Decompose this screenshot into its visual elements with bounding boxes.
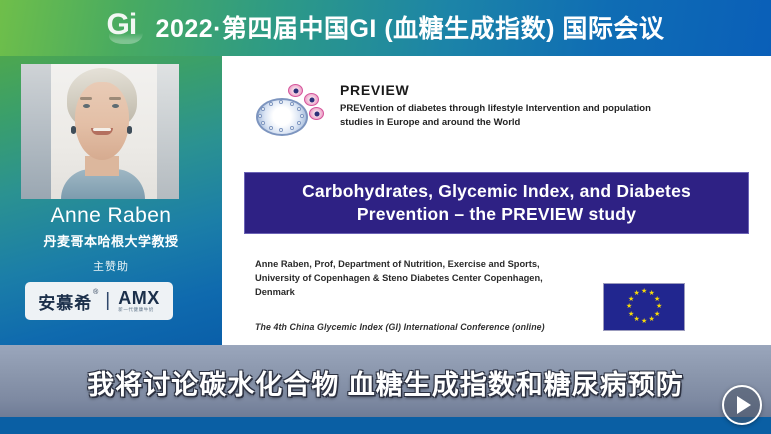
cell-membrane-dot-icon	[261, 107, 265, 111]
portrait-eye-right	[112, 104, 119, 108]
slide-title-banner: Carbohydrates, Glycemic Index, and Diabe…	[244, 172, 749, 234]
conference-header-banner: Gi 2022·第四届中国GI (血糖生成指数) 国际会议	[0, 0, 771, 56]
preview-project-name: PREVIEW	[340, 82, 670, 98]
cell-membrane-dot-icon	[297, 121, 301, 125]
eu-flag-star-1: ★	[641, 289, 647, 295]
small-cell-icon-2	[304, 93, 319, 106]
speaker-panel: Anne Raben 丹麦哥本哈根大学教授 主赞助 安慕希® | AMX 新一代…	[0, 56, 222, 345]
registered-mark-icon: ®	[93, 289, 99, 296]
cell-membrane-dot-icon	[279, 128, 283, 132]
portrait-bg-right	[157, 64, 179, 199]
preview-text-block: PREVIEW PREVention of diabetes through l…	[340, 82, 670, 130]
eu-flag-star-8: ★	[634, 317, 640, 323]
large-cell-icon	[256, 98, 308, 136]
eu-flag-star-6: ★	[649, 317, 655, 323]
preview-project-header: PREVIEW PREVention of diabetes through l…	[254, 82, 670, 136]
cell-membrane-dot-icon	[269, 102, 273, 106]
portrait-eye-left	[83, 104, 90, 108]
sponsor-english-subtitle: 新一代健康牛奶	[118, 308, 154, 313]
portrait-face	[75, 82, 129, 160]
sponsor-divider: |	[105, 290, 110, 312]
gi-logo-icon: Gi	[107, 12, 147, 46]
portrait-bg-left	[21, 64, 51, 199]
cell-membrane-dot-icon	[290, 126, 294, 130]
eu-flag-star-11: ★	[628, 297, 634, 303]
cell-membrane-dot-icon	[269, 126, 273, 130]
eu-flag-star-4: ★	[656, 304, 662, 310]
presentation-slide[interactable]: PREVIEW PREVention of diabetes through l…	[222, 56, 771, 345]
speaker-portrait-photo	[21, 64, 179, 199]
header-inner: Gi 2022·第四届中国GI (血糖生成指数) 国际会议	[107, 12, 665, 46]
eu-flag-star-10: ★	[626, 304, 632, 310]
sponsor-english-name: AMX	[118, 289, 160, 307]
portrait-teeth	[93, 128, 111, 131]
small-cell-icon-3	[309, 107, 324, 120]
slide-authors-affiliation: Anne Raben, Prof, Department of Nutritio…	[255, 258, 585, 300]
eu-flag-star-9: ★	[628, 312, 634, 318]
portrait-earring-right	[127, 126, 132, 134]
cell-membrane-dot-icon	[258, 114, 262, 118]
conference-title: 2022·第四届中国GI (血糖生成指数) 国际会议	[156, 15, 665, 43]
portrait-brow-left	[80, 97, 92, 100]
bottom-color-strip	[0, 417, 771, 434]
eu-flag-star-12: ★	[634, 291, 640, 297]
cell-membrane-dot-icon	[279, 100, 283, 104]
small-cell-icon-1	[288, 84, 303, 97]
slide-title-line2: Prevention – the PREVIEW study	[357, 203, 636, 226]
eu-flag-star-7: ★	[641, 319, 647, 325]
sponsor-logo-card: 安慕希® | AMX 新一代健康牛奶	[25, 282, 173, 320]
portrait-brow-right	[109, 97, 121, 100]
cell-membrane-dot-icon	[290, 102, 294, 106]
portrait-earring-left	[71, 126, 76, 134]
cell-membrane-dot-icon	[297, 107, 301, 111]
video-player[interactable]: Gi 2022·第四届中国GI (血糖生成指数) 国际会议 Anne Raben	[0, 0, 771, 434]
play-button[interactable]	[722, 385, 762, 425]
gi-logo-swoosh-icon	[109, 33, 143, 44]
preview-project-subtitle: PREVention of diabetes through lifestyle…	[340, 102, 670, 130]
sponsor-english-block: AMX 新一代健康牛奶	[118, 289, 160, 313]
eu-flag-star-3: ★	[654, 297, 660, 303]
slide-conference-line: The 4th China Glycemic Index (GI) Intern…	[255, 322, 615, 332]
slide-title-line1: Carbohydrates, Glycemic Index, and Diabe…	[302, 180, 691, 203]
cell-membrane-dot-icon	[300, 114, 304, 118]
subtitle-caption: 我将讨论碳水化合物 血糖生成指数和糖尿病预防	[87, 363, 684, 402]
eu-flag-icon: ★★★★★★★★★★★★	[603, 283, 685, 331]
caption-band: 我将讨论碳水化合物 血糖生成指数和糖尿病预防	[0, 345, 771, 417]
cell-membrane-dot-icon	[261, 121, 265, 125]
speaker-title: 丹麦哥本哈根大学教授	[0, 231, 222, 250]
play-icon	[737, 396, 751, 414]
sponsor-chinese-name: 安慕希®	[38, 289, 92, 314]
speaker-name: Anne Raben	[0, 204, 222, 228]
sponsor-label: 主赞助	[0, 258, 222, 274]
preview-cell-logo-icon	[254, 82, 324, 136]
sponsor-chinese-text: 安慕希	[38, 294, 92, 313]
